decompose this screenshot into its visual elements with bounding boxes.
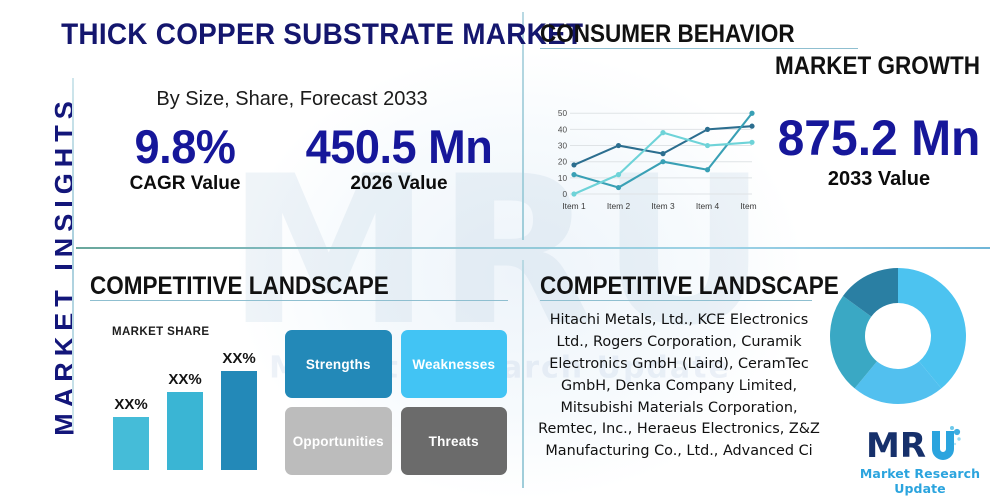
side-label-market-insights: MARKET INSIGHTS [50,56,81,476]
donut-chart-svg [828,266,968,406]
divider-vertical-mid-bottom [522,260,524,488]
bar-rect [113,417,149,470]
bar-rect [167,392,203,470]
kpi-2026: 450.5 Mn 2026 Value [292,122,506,195]
swot-box-strengths[interactable]: Strengths [285,330,392,398]
logo-mru: MR Market Research Update [845,425,995,496]
svg-text:20: 20 [558,158,568,167]
kpi-row: 9.8% CAGR Value 450.5 Mn 2026 Value [78,122,506,195]
bar-column: XX% [113,396,149,470]
market-share-label: MARKET SHARE [112,326,209,338]
svg-text:0: 0 [562,190,567,199]
bar-value-label: XX% [222,350,255,367]
section-heading-competitive-landscape-left: COMPETITIVE LANDSCAPE [90,272,389,301]
section-heading-consumer-behavior: CONSUMER BEHAVIOR [540,20,795,49]
svg-text:Item 4: Item 4 [696,201,720,211]
svg-text:Item 3: Item 3 [651,201,675,211]
bar-rect [221,371,257,470]
swot-box-label: Threats [429,434,479,449]
svg-text:40: 40 [558,125,568,134]
line-chart: 01020304050Item 1Item 2Item 3Item 4Item … [548,104,758,216]
page-title: THICK COPPER SUBSTRATE MARKET [61,18,489,52]
swot-grid: StrengthsWeaknessesOpportunitiesThreats [285,330,507,475]
kpi-cagr: 9.8% CAGR Value [78,122,292,195]
company-list: Hitachi Metals, Ltd., KCE Electronics Lt… [534,310,824,463]
mru-logo-icon: MR [860,425,980,465]
market-growth-label: 2033 Value [760,168,998,191]
divider-horizontal [76,247,990,249]
kpi-cagr-label: CAGR Value [78,173,292,195]
svg-text:Item 1: Item 1 [562,201,586,211]
bar-value-label: XX% [168,371,201,388]
bar-chart: XX%XX%XX% [105,340,280,470]
kpi-cagr-value: 9.8% [82,122,287,171]
logo-tagline: Market Research Update [845,466,995,496]
swot-box-weaknesses[interactable]: Weaknesses [401,330,508,398]
svg-text:Item 5: Item 5 [740,201,758,211]
bar-column: XX% [221,350,257,470]
svg-text:30: 30 [558,142,568,151]
kpi-2026-value: 450.5 Mn [296,122,501,171]
market-growth-value-block: 875.2 Mn 2033 Value [760,112,998,191]
donut-chart [828,266,968,411]
consumer-behavior-underline [540,48,858,49]
page-subtitle: By Size, Share, Forecast 2033 [78,88,506,111]
svg-text:50: 50 [558,109,568,118]
section-heading-market-growth: MARKET GROWTH [775,52,980,81]
competitive-landscape-right-underline [540,300,812,301]
bar-column: XX% [167,371,203,470]
bar-value-label: XX% [114,396,147,413]
section-heading-competitive-landscape-right: COMPETITIVE LANDSCAPE [540,272,839,301]
infographic-page: MRU Market Research Update MARKET INSIGH… [0,0,1000,500]
svg-text:MR: MR [866,426,926,465]
competitive-landscape-left-underline [90,300,508,301]
swot-box-opportunities[interactable]: Opportunities [285,407,392,475]
swot-box-threats[interactable]: Threats [401,407,508,475]
svg-text:10: 10 [558,174,568,183]
market-growth-value: 875.2 Mn [765,112,993,165]
kpi-2026-label: 2026 Value [292,173,506,195]
swot-box-label: Opportunities [293,434,384,449]
divider-vertical-left [72,78,74,430]
swot-box-label: Weaknesses [412,357,495,372]
swot-box-label: Strengths [306,357,371,372]
svg-text:Item 2: Item 2 [607,201,631,211]
line-chart-svg: 01020304050Item 1Item 2Item 3Item 4Item … [548,104,758,216]
